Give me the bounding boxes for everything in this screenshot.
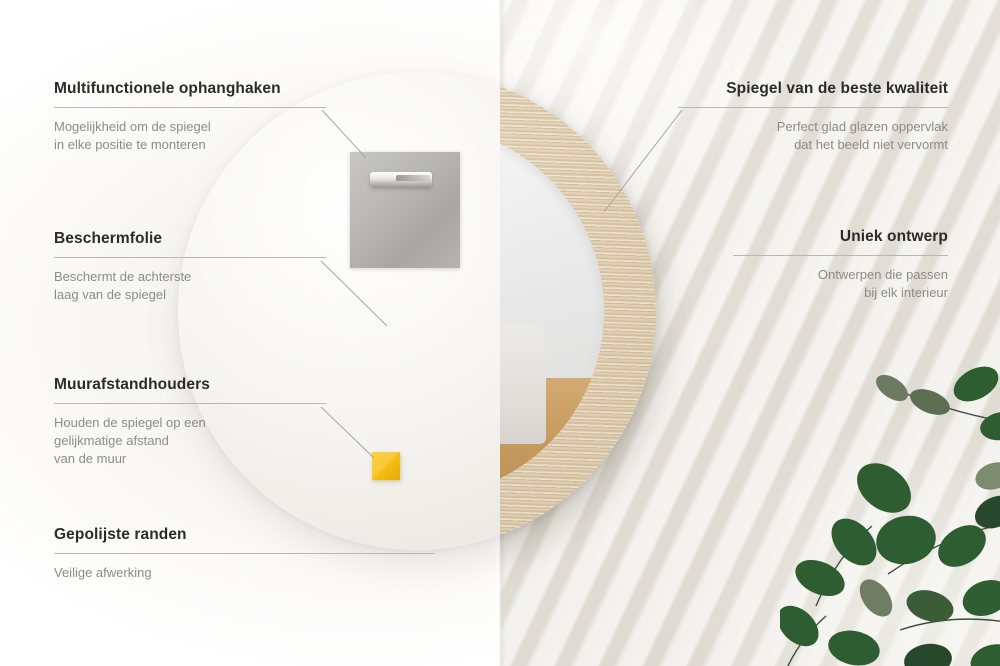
callout-description: Ontwerpen die passen bij elk interieur: [733, 266, 948, 302]
callout-rule: [54, 403, 326, 404]
callout-description-line: van de muur: [54, 450, 326, 468]
callout-title: Muurafstandhouders: [54, 376, 326, 394]
mirror-glass-sheen: [500, 124, 604, 498]
callout-description-line: Mogelijkheid om de spiegel: [54, 118, 326, 136]
callout-description-line: dat het beeld niet vervormt: [678, 136, 948, 154]
hanging-hook-slot: [370, 172, 432, 187]
callout-description-line: laag van de spiegel: [54, 286, 326, 304]
callout-title: Multifunctionele ophanghaken: [54, 80, 326, 98]
wall-spacer-chip: [372, 452, 400, 480]
callout-multifunctionele-ophanghaken: Multifunctionele ophanghaken Mogelijkhei…: [54, 80, 326, 154]
mirror-wood-frame: [500, 72, 656, 550]
callout-title: Spiegel van de beste kwaliteit: [678, 80, 948, 98]
callout-description-line: Perfect glad glazen oppervlak: [678, 118, 948, 136]
callout-description-line: Houden de spiegel op een: [54, 414, 326, 432]
callout-description-line: bij elk interieur: [733, 284, 948, 302]
callout-rule: [54, 257, 326, 258]
callout-title: Uniek ontwerp: [733, 228, 948, 246]
callout-rule: [678, 107, 948, 108]
callout-description-line: in elke positie te monteren: [54, 136, 326, 154]
callout-description-line: Veilige afwerking: [54, 564, 434, 582]
callout-description: Beschermt de achterste laag van de spieg…: [54, 268, 326, 304]
callout-title: Beschermfolie: [54, 230, 326, 248]
callout-spiegel-van-de-beste-kwaliteit: Spiegel van de beste kwaliteit Perfect g…: [678, 80, 948, 154]
callout-gepolijste-randen: Gepolijste randen Veilige afwerking: [54, 526, 434, 582]
callout-rule: [54, 553, 434, 554]
callout-description: Veilige afwerking: [54, 564, 434, 582]
callout-rule: [733, 255, 948, 256]
callout-description: Mogelijkheid om de spiegel in elke posit…: [54, 118, 326, 154]
infographic-canvas: Multifunctionele ophanghaken Mogelijkhei…: [0, 0, 1000, 666]
callout-description-line: Ontwerpen die passen: [733, 266, 948, 284]
callout-description-line: Beschermt de achterste: [54, 268, 326, 286]
callout-beschermfolie: Beschermfolie Beschermt de achterste laa…: [54, 230, 326, 304]
callout-uniek-ontwerp: Uniek ontwerp Ontwerpen die passen bij e…: [733, 228, 948, 302]
callout-muurafstandhouders: Muurafstandhouders Houden de spiegel op …: [54, 376, 326, 468]
hanging-hook-plate: [350, 152, 460, 268]
plant-leaves-icon: [780, 330, 1000, 666]
callout-description: Houden de spiegel op een gelijkmatige af…: [54, 414, 326, 468]
callout-description-line: gelijkmatige afstand: [54, 432, 326, 450]
callout-title: Gepolijste randen: [54, 526, 434, 544]
callout-description: Perfect glad glazen oppervlak dat het be…: [678, 118, 948, 154]
mirror-glass: [500, 124, 604, 498]
callout-rule: [54, 107, 326, 108]
